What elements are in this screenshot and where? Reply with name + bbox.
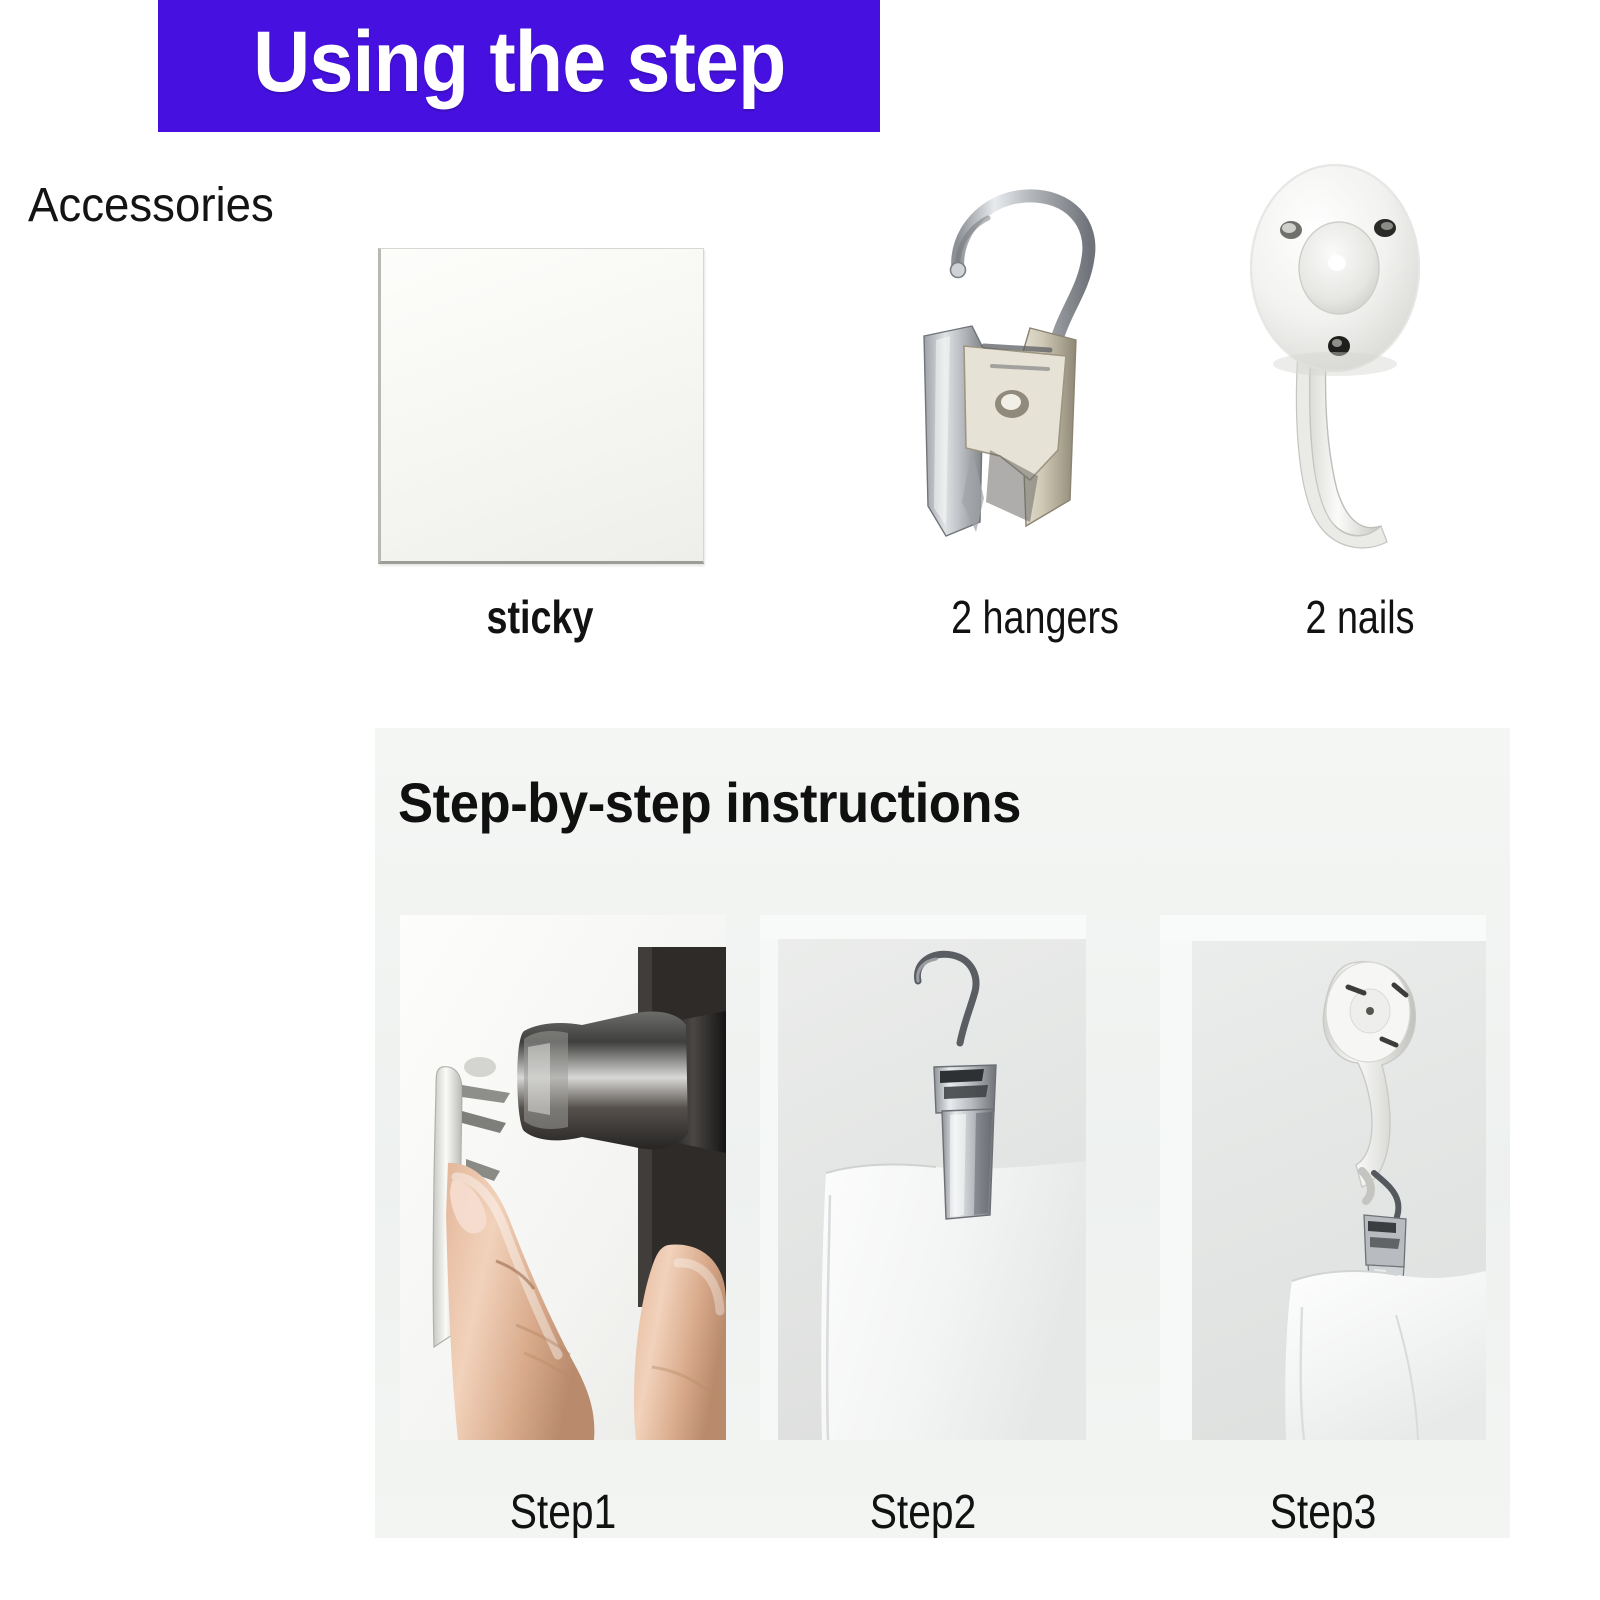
- accessory-caption-sticky: sticky: [368, 590, 712, 644]
- sticky-pad-icon: [330, 150, 750, 580]
- step-caption-1: Step1: [424, 1485, 701, 1540]
- clip-hanger-graphic: [880, 150, 1190, 580]
- mounted-hook-with-clip-illustration: [1160, 915, 1486, 1440]
- step-caption-3: Step3: [1184, 1485, 1461, 1540]
- step-1-photo: [400, 915, 726, 1440]
- wall-hook-graphic: [1215, 150, 1505, 580]
- steps-row: Step1: [0, 915, 1600, 1575]
- accessory-item-nails: 2 nails: [1215, 150, 1505, 680]
- clip-hanger-icon: [880, 150, 1190, 580]
- accessory-caption-hangers: 2 hangers: [908, 590, 1162, 644]
- step-2-photo: [760, 915, 1086, 1440]
- step-caption-2: Step2: [784, 1485, 1061, 1540]
- accessories-row: sticky: [0, 150, 1600, 680]
- sticky-pad-square: [378, 248, 704, 564]
- accessory-caption-nails: 2 nails: [1241, 590, 1479, 644]
- accessory-item-hangers: 2 hangers: [880, 150, 1190, 680]
- page-title: Using the step: [253, 19, 785, 113]
- hand-hammer-hook-illustration: [400, 915, 726, 1440]
- accessory-item-sticky: sticky: [330, 150, 750, 680]
- wall-hook-nail-icon: [1215, 150, 1505, 580]
- title-banner: Using the step: [158, 0, 880, 132]
- instructions-heading: Step-by-step instructions: [398, 770, 1021, 835]
- clip-gripping-sheet-illustration: [760, 915, 1086, 1440]
- step-3-photo: [1160, 915, 1486, 1440]
